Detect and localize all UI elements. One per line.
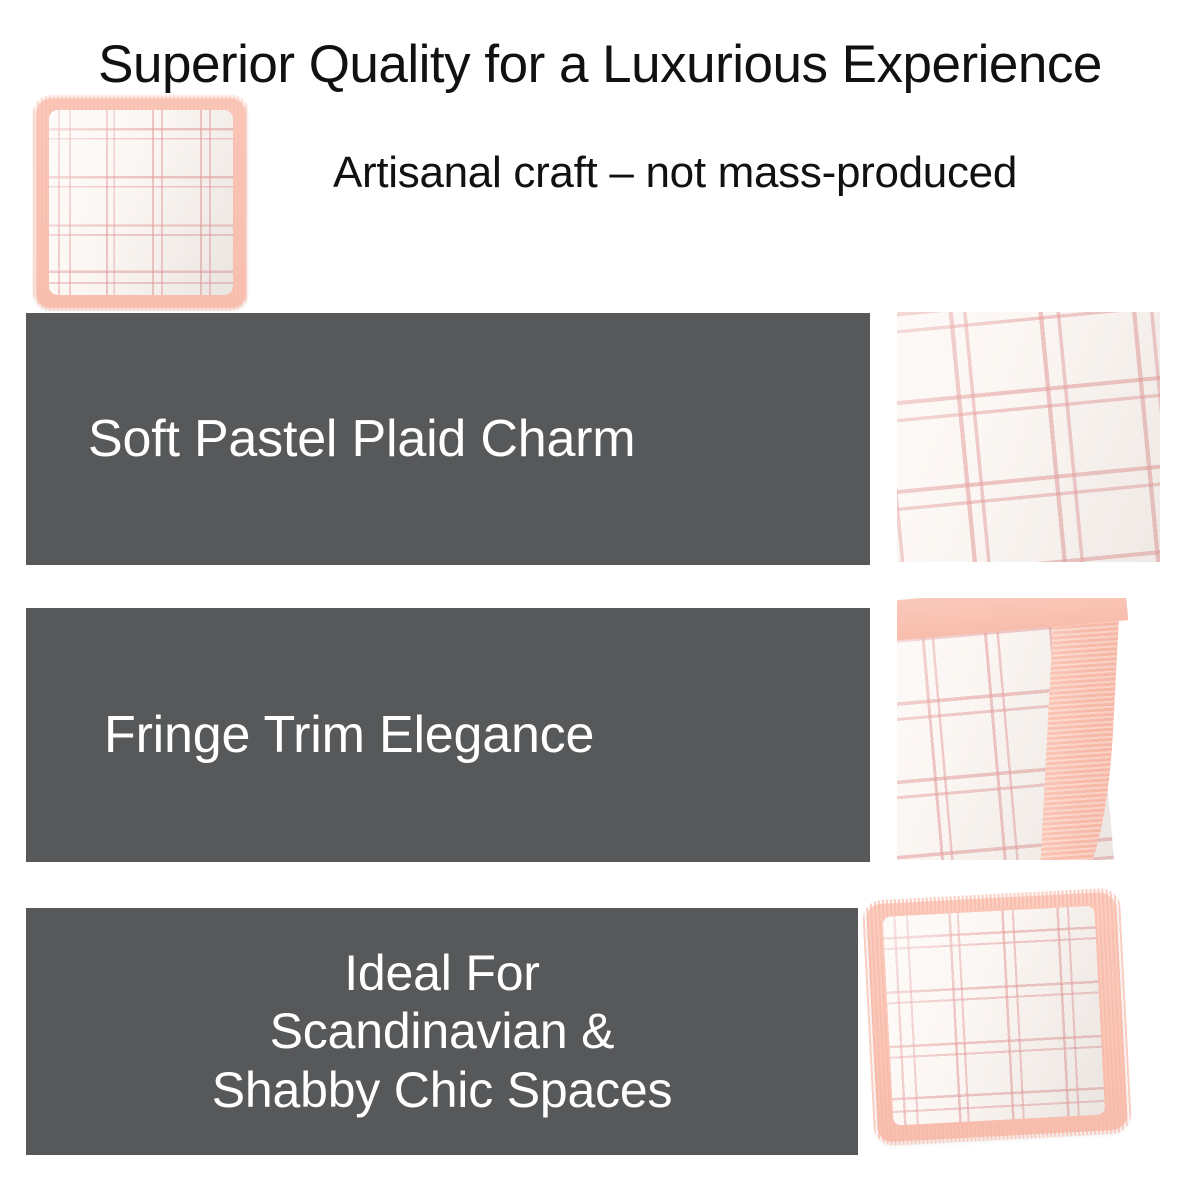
pillow-plaid-face <box>49 110 233 295</box>
infographic-canvas: Superior Quality for a Luxurious Experie… <box>0 0 1200 1200</box>
feature-bar-fringe-trim-elegance: Fringe Trim Elegance <box>26 608 870 862</box>
angled-pillow-shading-overlay <box>883 906 1106 1126</box>
feature-image-plaid-fabric-closeup <box>897 312 1160 562</box>
feature-label-3-line-3: Shabby Chic Spaces <box>212 1061 673 1120</box>
feature-label-3: Ideal For Scandinavian & Shabby Chic Spa… <box>212 944 673 1120</box>
feature-label-1: Soft Pastel Plaid Charm <box>88 413 635 465</box>
feature-image-plaid-pillow-angled <box>866 892 1128 1143</box>
pillow-shading-overlay <box>49 110 233 295</box>
plaid-fabric-texture <box>897 312 1160 562</box>
feature-bar-soft-pastel-plaid-charm: Soft Pastel Plaid Charm <box>26 313 870 565</box>
page-headline: Superior Quality for a Luxurious Experie… <box>0 34 1200 95</box>
feature-bar-ideal-for-spaces: Ideal For Scandinavian & Shabby Chic Spa… <box>26 908 858 1155</box>
feature-label-3-line-2: Scandinavian & <box>212 1002 673 1061</box>
feature-label-3-line-1: Ideal For <box>212 944 673 1003</box>
angled-pillow-plaid-face <box>883 906 1106 1126</box>
hero-pillow-image <box>36 98 246 308</box>
swatch-shading-overlay <box>897 312 1160 562</box>
page-subheadline: Artisanal craft – not mass-produced <box>160 148 1190 198</box>
feature-label-2: Fringe Trim Elegance <box>104 709 594 761</box>
feature-image-fringe-trim-corner <box>897 598 1162 860</box>
